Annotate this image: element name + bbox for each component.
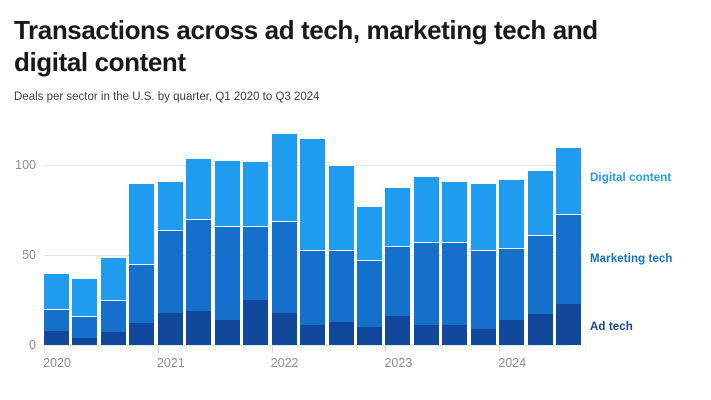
bar-segment-marketing-tech [471,250,496,329]
bar-q1-2022[interactable] [272,133,297,345]
bar-segment-digital-content [556,147,581,214]
x-axis-minor-tick [556,346,557,351]
bar-segment-marketing-tech [357,260,382,327]
bar-segment-ad-tech [528,314,553,345]
bar-segment-digital-content [329,165,354,250]
x-axis-minor-tick [101,346,102,351]
bar-segment-digital-content [357,206,382,260]
bar-q3-2022[interactable] [329,165,354,345]
bar-segment-ad-tech [471,329,496,345]
bars-container: 050100 [44,120,569,345]
bar-segment-ad-tech [44,331,69,345]
bar-q1-2023[interactable] [385,187,410,345]
x-axis-label-2020: 2020 [43,356,71,370]
x-axis-tick-2021 [158,346,159,353]
x-axis-minor-tick [471,346,472,351]
bar-q4-2023[interactable] [471,183,496,345]
bar-segment-ad-tech [556,304,581,345]
x-axis-minor-tick [442,346,443,351]
bar-segment-marketing-tech [329,250,354,322]
bar-q1-2020[interactable] [44,273,69,345]
bar-segment-ad-tech [385,316,410,345]
bar-segment-marketing-tech [499,248,524,320]
x-axis-tick-2020 [44,346,45,353]
bar-segment-ad-tech [186,311,211,345]
bar-segment-ad-tech [215,320,240,345]
chart-page: Transactions across ad tech, marketing t… [0,0,711,400]
x-axis-label-2024: 2024 [498,356,526,370]
x-axis: 20202021202220232024 [44,346,569,386]
bar-segment-digital-content [528,170,553,235]
x-axis-minor-tick [414,346,415,351]
x-axis-tick-2022 [272,346,273,353]
x-axis-label-2022: 2022 [271,356,299,370]
bar-q1-2024[interactable] [499,179,524,345]
bar-segment-marketing-tech [272,221,297,313]
bar-segment-marketing-tech [243,226,268,300]
x-axis-minor-tick [215,346,216,351]
bar-segment-ad-tech [158,313,183,345]
bar-segment-marketing-tech [385,246,410,316]
x-axis-minor-tick [129,346,130,351]
bar-segment-digital-content [300,138,325,250]
bar-segment-ad-tech [414,325,439,345]
x-axis-tick-2024 [499,346,500,353]
bar-segment-marketing-tech [300,250,325,326]
bar-q2-2022[interactable] [300,138,325,345]
bar-segment-marketing-tech [215,226,240,320]
chart-legend: Digital contentMarketing techAd tech [590,120,711,350]
bar-segment-ad-tech [357,327,382,345]
bar-segment-marketing-tech [528,235,553,314]
bar-segment-digital-content [499,179,524,247]
bar-q2-2024[interactable] [528,170,553,345]
bar-segment-ad-tech [442,325,467,345]
y-axis-label: 50 [22,248,36,262]
y-axis-label: 0 [29,338,36,352]
bar-segment-marketing-tech [72,316,97,338]
bar-segment-ad-tech [499,320,524,345]
bar-segment-marketing-tech [556,214,581,304]
bar-q2-2021[interactable] [186,158,211,345]
bar-segment-marketing-tech [129,264,154,323]
legend-item-marketing-tech[interactable]: Marketing tech [590,253,673,265]
x-axis-minor-tick [243,346,244,351]
bar-q3-2024[interactable] [556,147,581,345]
bar-segment-digital-content [158,181,183,230]
bar-q1-2021[interactable] [158,181,183,345]
legend-item-digital-content[interactable]: Digital content [590,172,671,184]
bar-segment-ad-tech [101,332,126,345]
x-axis-minor-tick [72,346,73,351]
bar-segment-digital-content [215,160,240,227]
bar-q4-2022[interactable] [357,206,382,345]
bar-segment-digital-content [414,176,439,243]
x-axis-tick-2023 [385,346,386,353]
x-axis-minor-tick [528,346,529,351]
bar-segment-marketing-tech [186,219,211,311]
bar-q3-2021[interactable] [215,160,240,345]
bar-segment-digital-content [272,133,297,221]
bar-segment-ad-tech [272,313,297,345]
bar-q2-2020[interactable] [72,278,97,345]
bar-segment-digital-content [72,278,97,316]
bar-segment-digital-content [442,181,467,242]
bar-segment-digital-content [44,273,69,309]
bar-segment-digital-content [471,183,496,250]
bar-q2-2023[interactable] [414,176,439,345]
bar-q3-2023[interactable] [442,181,467,345]
x-axis-minor-tick [357,346,358,351]
bar-segment-ad-tech [329,322,354,345]
x-axis-label-2023: 2023 [384,356,412,370]
bar-segment-ad-tech [243,300,268,345]
bar-segment-digital-content [186,158,211,219]
bar-segment-marketing-tech [414,242,439,325]
x-axis-label-2021: 2021 [157,356,185,370]
bar-segment-digital-content [129,183,154,264]
bar-segment-digital-content [243,161,268,226]
plot-area: 050100 20202021202220232024 Digital cont… [0,0,711,400]
bar-segment-ad-tech [129,323,154,345]
bar-segment-ad-tech [300,325,325,345]
x-axis-minor-tick [186,346,187,351]
bar-q4-2021[interactable] [243,161,268,345]
x-axis-minor-tick [300,346,301,351]
bar-segment-marketing-tech [158,230,183,313]
x-axis-minor-tick [585,346,586,351]
legend-item-ad-tech[interactable]: Ad tech [590,321,633,333]
bar-segment-marketing-tech [101,300,126,332]
bar-segment-marketing-tech [442,242,467,325]
bar-q4-2020[interactable] [129,183,154,345]
bar-segment-digital-content [385,187,410,246]
y-axis-label: 100 [15,158,36,172]
bar-segment-marketing-tech [44,309,69,331]
x-axis-minor-tick [329,346,330,351]
bar-q3-2020[interactable] [101,257,126,345]
bar-segment-ad-tech [72,338,97,345]
bar-segment-digital-content [101,257,126,300]
